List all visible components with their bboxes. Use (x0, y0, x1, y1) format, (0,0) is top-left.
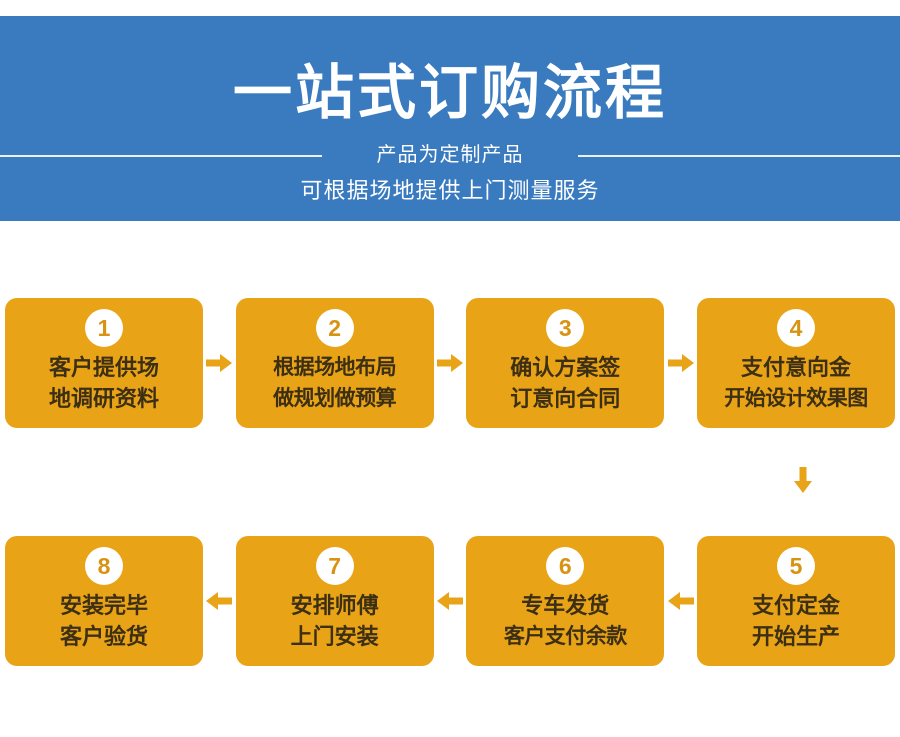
step-box-4[interactable]: 4 支付意向金 开始设计效果图 (697, 298, 895, 428)
step-label-line-2: 开始生产 (752, 621, 840, 652)
step-label-line-1: 支付定金 (752, 590, 840, 621)
process-flow-row-bottom: 8 安装完毕 客户验货 7 安排师傅 上门安装 6 专车发货 客户支付余款 5 … (5, 536, 895, 666)
step-label-line-2: 开始设计效果图 (724, 383, 868, 414)
step-number-badge: 5 (777, 547, 815, 585)
arrow-left-7-to-8 (203, 536, 235, 666)
step-number-badge: 4 (777, 309, 815, 347)
step-label-line-1: 客户提供场 (49, 352, 159, 383)
step-box-6[interactable]: 6 专车发货 客户支付余款 (466, 536, 664, 666)
step-box-2[interactable]: 2 根据场地布局 做规划做预算 (236, 298, 434, 428)
page-title: 一站式订购流程 (0, 58, 900, 128)
step-label-line-1: 安装完毕 (60, 590, 148, 621)
page-header-banner: 一站式订购流程 产品为定制产品 可根据场地提供上门测量服务 (0, 16, 900, 221)
step-label-line-1: 安排师傅 (291, 590, 379, 621)
header-subtitle-secondary: 可根据场地提供上门测量服务 (0, 175, 900, 207)
step-box-7[interactable]: 7 安排师傅 上门安装 (236, 536, 434, 666)
arrow-left-icon (206, 592, 232, 610)
step-box-8[interactable]: 8 安装完毕 客户验货 (5, 536, 203, 666)
arrow-right-3-to-4 (665, 298, 697, 428)
step-label-line-2: 做规划做预算 (273, 383, 396, 414)
arrow-down-4-to-5 (789, 462, 817, 498)
arrow-right-1-to-2 (203, 298, 235, 428)
arrow-left-5-to-6 (665, 536, 697, 666)
arrow-left-icon (668, 592, 694, 610)
step-box-1[interactable]: 1 客户提供场 地调研资料 (5, 298, 203, 428)
step-box-5[interactable]: 5 支付定金 开始生产 (697, 536, 895, 666)
step-label-line-1: 确认方案签 (510, 352, 620, 383)
process-flow-row-top: 1 客户提供场 地调研资料 2 根据场地布局 做规划做预算 3 确认方案签 订意… (5, 298, 895, 428)
step-label-line-2: 地调研资料 (49, 383, 159, 414)
step-label-line-2: 客户验货 (60, 621, 148, 652)
arrow-left-6-to-7 (434, 536, 466, 666)
step-label-line-2: 上门安装 (291, 621, 379, 652)
step-label-line-2: 客户支付余款 (504, 621, 627, 652)
step-number-badge: 6 (546, 547, 584, 585)
step-number-badge: 7 (316, 547, 354, 585)
step-label-line-1: 支付意向金 (741, 352, 851, 383)
arrow-left-icon (437, 592, 463, 610)
arrow-right-2-to-3 (434, 298, 466, 428)
arrow-right-icon (668, 354, 694, 372)
header-subtitle-primary: 产品为定制产品 (0, 140, 900, 170)
step-number-badge: 1 (85, 309, 123, 347)
arrow-right-icon (206, 354, 232, 372)
step-number-badge: 8 (85, 547, 123, 585)
step-number-badge: 3 (546, 309, 584, 347)
arrow-down-icon (794, 467, 812, 493)
step-label-line-2: 订意向合同 (510, 383, 620, 414)
step-label-line-1: 根据场地布局 (273, 352, 396, 383)
step-number-badge: 2 (316, 309, 354, 347)
step-label-line-1: 专车发货 (521, 590, 609, 621)
step-box-3[interactable]: 3 确认方案签 订意向合同 (466, 298, 664, 428)
arrow-right-icon (437, 354, 463, 372)
